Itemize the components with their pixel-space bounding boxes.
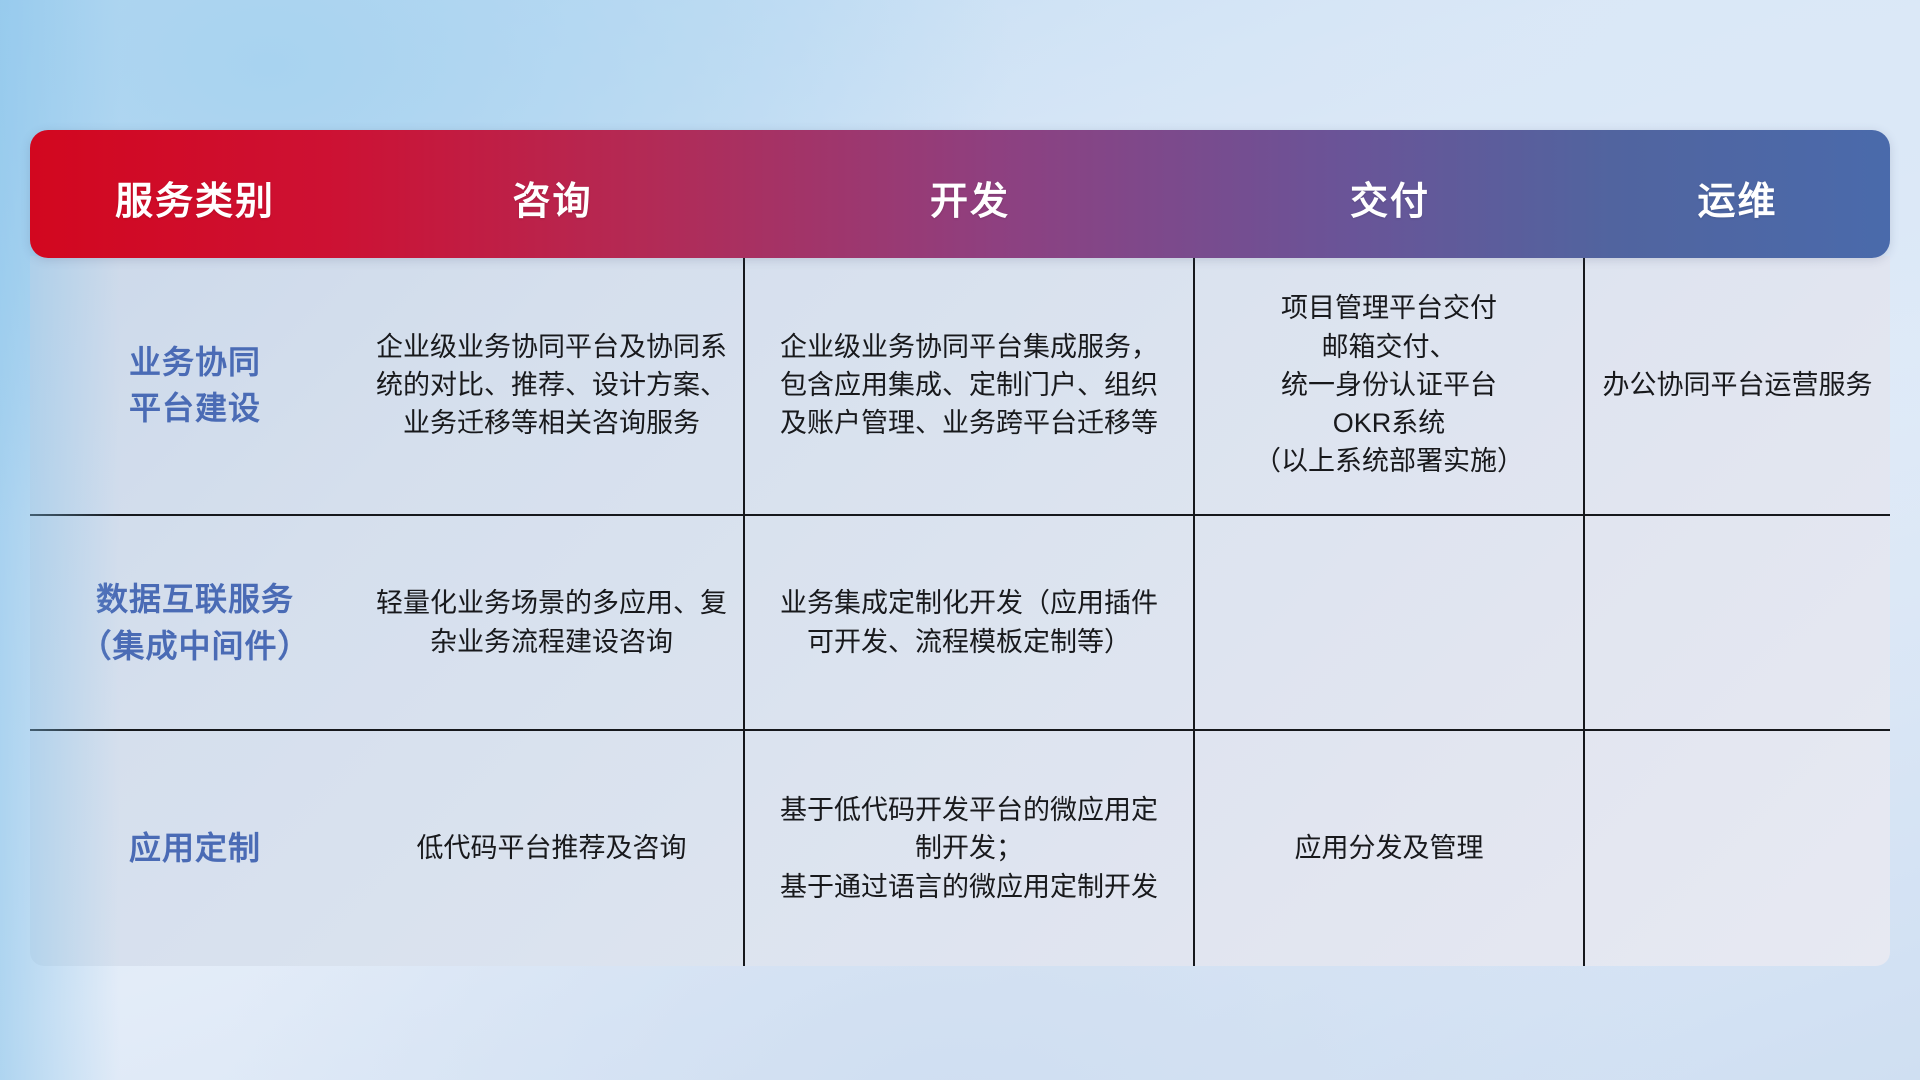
column-header-consulting: 咨询 — [360, 164, 745, 225]
table-row: 应用定制 低代码平台推荐及咨询 基于低代码开发平台的微应用定 制开发； 基于通过… — [30, 731, 1890, 966]
table-row: 业务协同 平台建设 企业级业务协同平台及协同系 统的对比、推荐、设计方案、 业务… — [30, 256, 1890, 516]
column-header-operations: 运维 — [1585, 164, 1890, 225]
cell-category-2: 应用定制 — [30, 731, 360, 966]
cell-development-2: 基于低代码开发平台的微应用定 制开发； 基于通过语言的微应用定制开发 — [745, 731, 1195, 966]
cell-consulting-0: 企业级业务协同平台及协同系 统的对比、推荐、设计方案、 业务迁移等相关咨询服务 — [360, 256, 745, 514]
column-header-development: 开发 — [745, 164, 1195, 225]
column-header-delivery: 交付 — [1195, 164, 1585, 225]
table-header-row: 服务类别 咨询 开发 交付 运维 — [30, 130, 1890, 258]
cell-delivery-0: 项目管理平台交付 邮箱交付、 统一身份认证平台 OKR系统 （以上系统部署实施） — [1195, 256, 1585, 514]
table-row: 数据互联服务 （集成中间件） 轻量化业务场景的多应用、复 杂业务流程建设咨询 业… — [30, 516, 1890, 731]
cell-development-1: 业务集成定制化开发（应用插件 可开发、流程模板定制等） — [745, 516, 1195, 729]
cell-consulting-1: 轻量化业务场景的多应用、复 杂业务流程建设咨询 — [360, 516, 745, 729]
cell-delivery-2: 应用分发及管理 — [1195, 731, 1585, 966]
cell-category-0: 业务协同 平台建设 — [30, 256, 360, 514]
cell-development-0: 企业级业务协同平台集成服务， 包含应用集成、定制门户、组织 及账户管理、业务跨平… — [745, 256, 1195, 514]
column-header-category: 服务类别 — [30, 164, 360, 225]
service-matrix-table: 服务类别 咨询 开发 交付 运维 业务协同 平台建设 企业级业务协同平台及协同系… — [30, 130, 1890, 966]
slide-canvas: 服务类别 咨询 开发 交付 运维 业务协同 平台建设 企业级业务协同平台及协同系… — [0, 0, 1920, 1080]
cell-category-1: 数据互联服务 （集成中间件） — [30, 516, 360, 729]
cell-operations-1 — [1585, 516, 1890, 729]
cell-consulting-2: 低代码平台推荐及咨询 — [360, 731, 745, 966]
cell-operations-0: 办公协同平台运营服务 — [1585, 256, 1890, 514]
cell-delivery-1 — [1195, 516, 1585, 729]
table-body: 业务协同 平台建设 企业级业务协同平台及协同系 统的对比、推荐、设计方案、 业务… — [30, 256, 1890, 966]
cell-operations-2 — [1585, 731, 1890, 966]
